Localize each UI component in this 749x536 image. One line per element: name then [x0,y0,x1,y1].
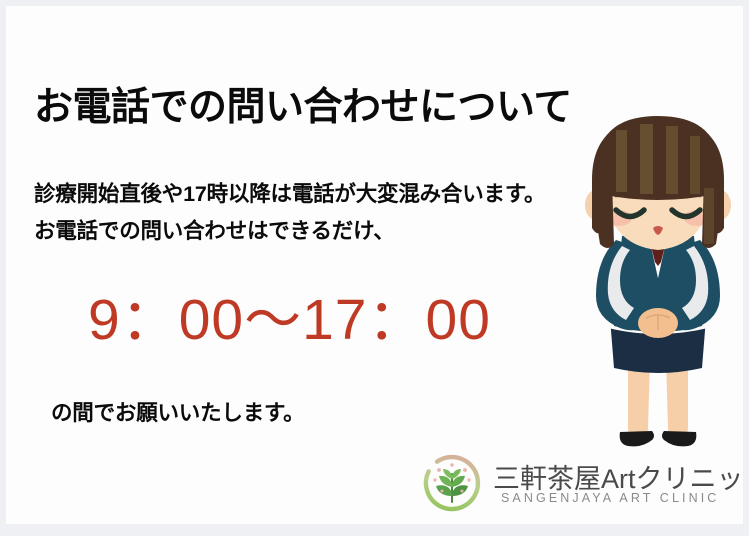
phone-hours-text: 9：00〜17：00 [88,274,491,356]
page-title: お電話での問い合わせについて [34,76,572,132]
leaf-circle-icon [421,452,483,514]
bowing-woman-illustration [562,110,743,460]
notice-body-line-1: 診療開始直後や17時以降は電話が大変混み合います。 [34,177,545,208]
clinic-name-en: SANGENJAYA ART CLINIC [501,491,719,505]
shoes-shape [620,431,697,446]
hands-shape [638,308,678,338]
notice-body-line-2: お電話での問い合わせはできるだけ、 [34,214,395,245]
notice-card: お電話での問い合わせについて 診療開始直後や17時以降は電話が大変混み合います。… [6,6,743,524]
clinic-logo: 三軒茶屋Artクリニック SANGENJAYA ART CLINIC [421,450,711,516]
notice-closing-line: の間でお願いいたします。 [51,396,304,427]
